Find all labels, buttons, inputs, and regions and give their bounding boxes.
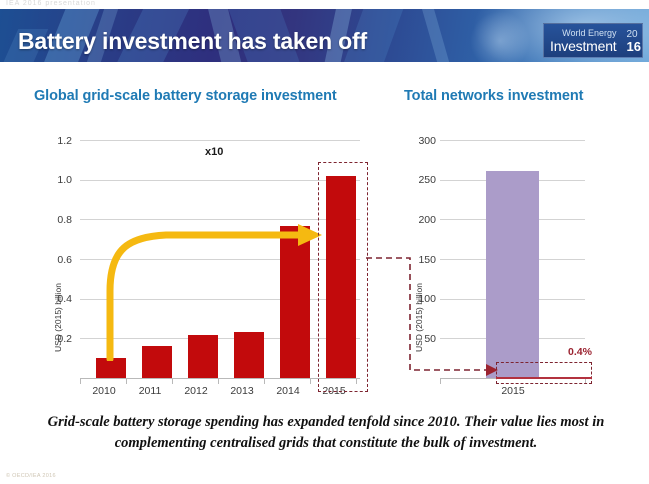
logo-line-1: World Energy [550, 28, 616, 39]
left-ytick-1.2: 1.2 [40, 135, 72, 147]
copyright-notice: © OECD/IEA 2016 [6, 473, 56, 479]
left-xtick-2013: 2013 [219, 385, 265, 397]
xtick-mark-4 [264, 379, 265, 384]
growth-arrow-icon [80, 141, 330, 361]
left-xtick-2011: 2011 [127, 385, 173, 397]
growth-multiplier-label: x10 [205, 146, 223, 158]
logo-line-2: Investment [550, 39, 616, 54]
right-xtick-2015: 2015 [490, 385, 536, 397]
left-xtick-2014: 2014 [265, 385, 311, 397]
left-ytick-0.8: 0.8 [40, 214, 72, 226]
left-ytick-0.6: 0.6 [40, 254, 72, 266]
left-ytick-0.2: 0.2 [40, 333, 72, 345]
xtick-mark-1 [126, 379, 127, 384]
xtick-mark-3 [218, 379, 219, 384]
slide-title: Battery investment has taken off [18, 28, 367, 55]
highlight-connector-icon [360, 252, 500, 377]
logo-year-bottom: 16 [626, 40, 640, 53]
caption-line-1: Grid-scale battery storage spending has … [48, 414, 557, 430]
right-ytick-250: 250 [404, 174, 436, 186]
battery-share-segment [496, 377, 592, 379]
right-xtick-mark-0 [440, 379, 441, 384]
right-ytick-300: 300 [404, 135, 436, 147]
logo-year-top: 20 [626, 29, 640, 40]
left-xtick-2012: 2012 [173, 385, 219, 397]
world-energy-investment-logo: World Energy Investment 20 16 [543, 23, 643, 58]
right-chart-title: Total networks investment [404, 88, 583, 104]
left-chart-title: Global grid-scale battery storage invest… [34, 88, 337, 104]
left-ytick-1.0: 1.0 [40, 174, 72, 186]
left-xtick-2010: 2010 [81, 385, 127, 397]
slide-caption: Grid-scale battery storage spending has … [26, 412, 626, 454]
top-strip-ghost-text: IEA 2016 presentation [6, 0, 96, 7]
xtick-mark-0 [80, 379, 81, 384]
share-percent-label: 0.4% [568, 346, 592, 358]
right-ytick-200: 200 [404, 214, 436, 226]
top-strip: IEA 2016 presentation [0, 0, 649, 9]
xtick-mark-5 [310, 379, 311, 384]
xtick-mark-2 [172, 379, 173, 384]
slide-body: Global grid-scale battery storage invest… [0, 62, 649, 410]
bar-2010 [96, 358, 126, 378]
gridline-300 [440, 140, 585, 141]
left-ytick-0.4: 0.4 [40, 293, 72, 305]
banner-shape-8 [417, 9, 454, 62]
right-chart-highlight-box [496, 362, 592, 384]
slide-banner: Battery investment has taken off World E… [0, 9, 649, 62]
